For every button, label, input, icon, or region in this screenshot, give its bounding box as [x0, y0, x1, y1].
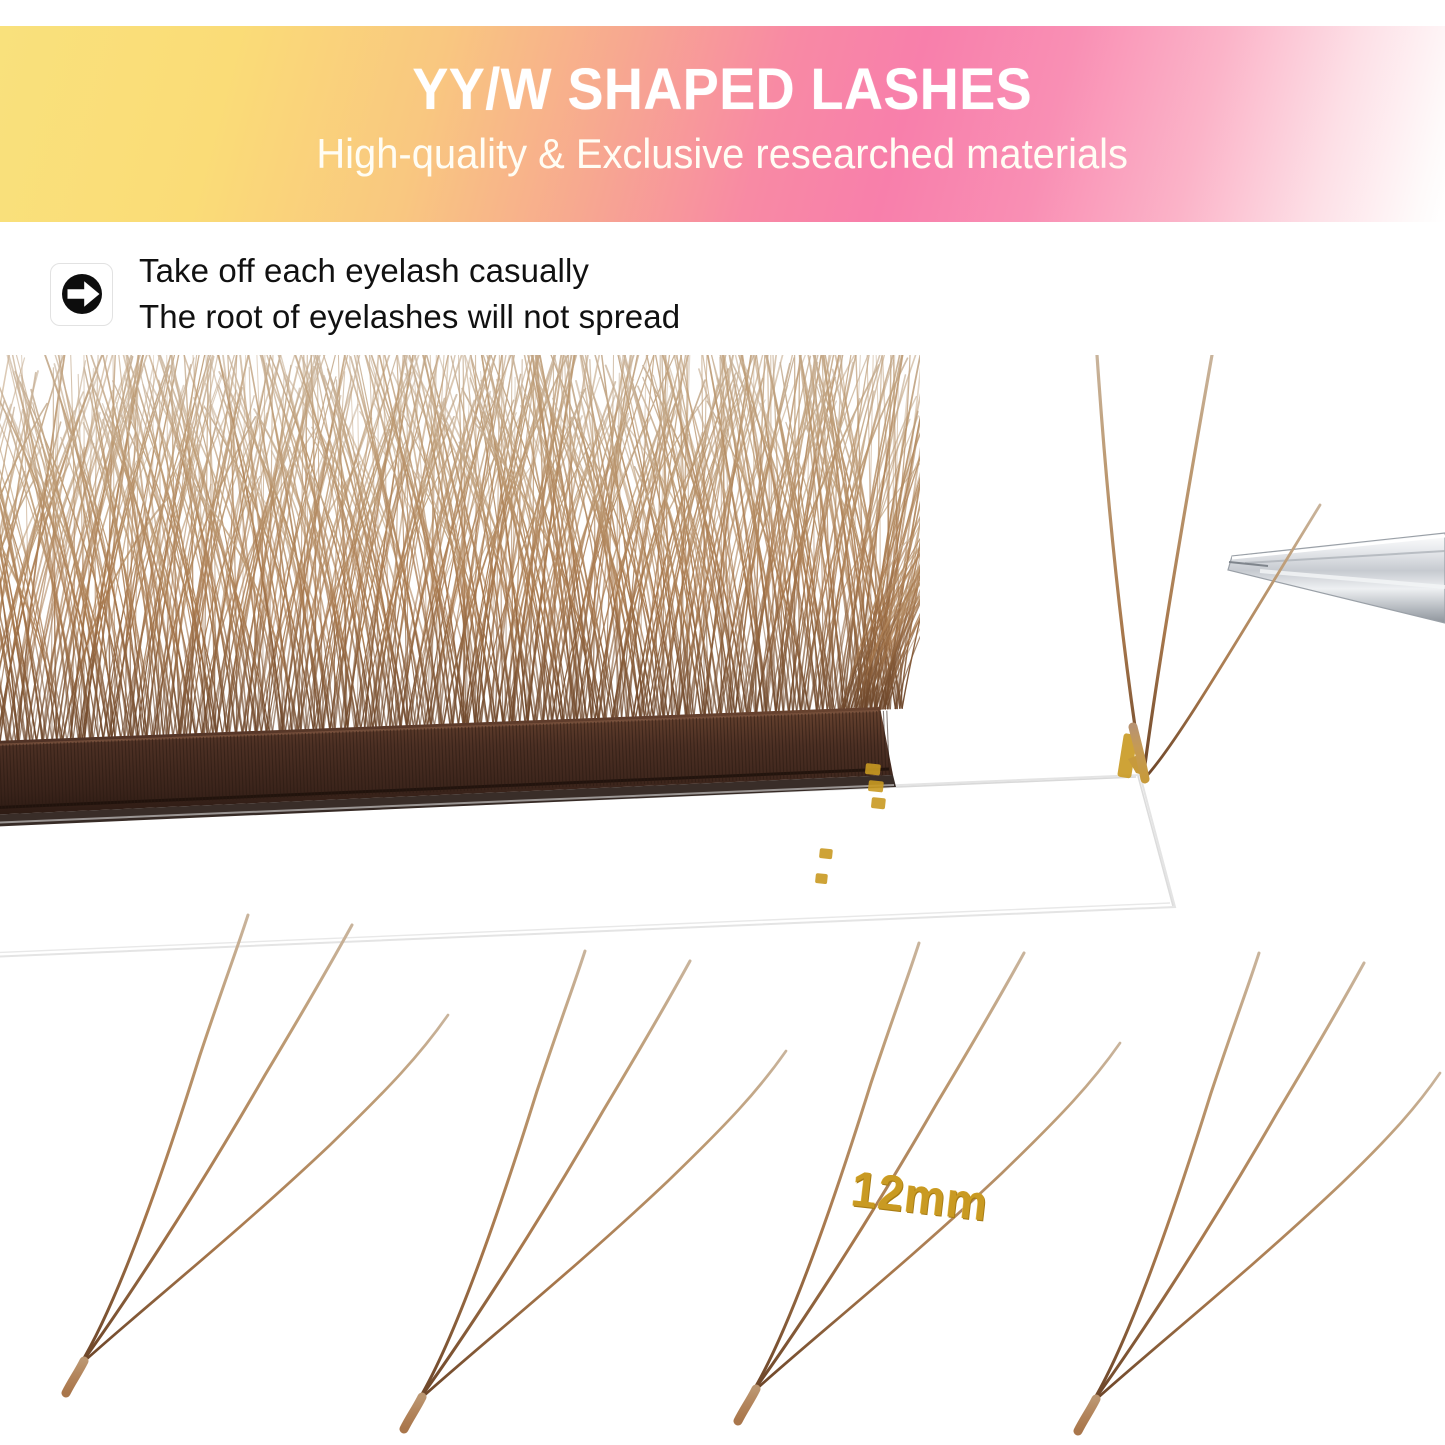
product-marketing-image: YY/W SHAPED LASHES High-quality & Exclus… — [0, 0, 1445, 1445]
instruction-text-block: Take off each eyelash casually The root … — [139, 248, 680, 340]
instruction-callout: Take off each eyelash casually The root … — [50, 248, 680, 340]
header-banner: YY/W SHAPED LASHES High-quality & Exclus… — [0, 26, 1445, 222]
page-title: YY/W SHAPED LASHES — [413, 60, 1033, 121]
page-subtitle: High-quality & Exclusive researched mate… — [317, 131, 1129, 177]
product-photo-illustration — [0, 355, 1445, 1445]
lash-strip-fibers — [0, 355, 1113, 745]
lash-fan-group — [66, 915, 1440, 1431]
lash-fan-1 — [66, 915, 448, 1393]
header-banner-content: YY/W SHAPED LASHES High-quality & Exclus… — [0, 26, 1445, 222]
instruction-line-2: The root of eyelashes will not spread — [139, 294, 680, 340]
lash-fan-4 — [1078, 953, 1440, 1431]
lash-fan-2 — [404, 951, 786, 1429]
lash-fan-3 — [738, 943, 1120, 1421]
arrow-right-circle-icon — [59, 271, 105, 317]
product-photo: 12mm — [0, 355, 1445, 1445]
arrow-icon-container — [50, 263, 113, 326]
instruction-line-1: Take off each eyelash casually — [139, 248, 680, 294]
tweezers — [1228, 533, 1445, 623]
